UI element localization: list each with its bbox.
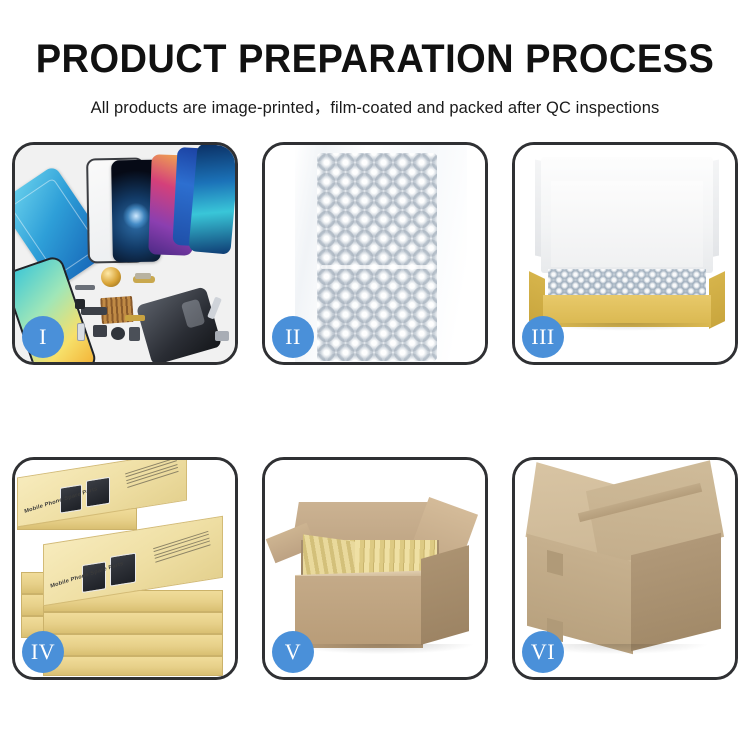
bracket-part-icon bbox=[81, 307, 107, 315]
flex-cable-part-icon bbox=[75, 285, 95, 290]
button-part-icon bbox=[75, 299, 85, 309]
retail-box-side-4 bbox=[43, 656, 223, 676]
bubble-wrap-icon bbox=[317, 153, 437, 361]
mailer-drop-shadow bbox=[541, 323, 713, 331]
step-badge-3: III bbox=[522, 316, 564, 358]
phone-teal-icon bbox=[188, 145, 235, 255]
step-badge-1: I bbox=[22, 316, 64, 358]
product-preparation-process-page: PRODUCT PREPARATION PROCESS All products… bbox=[0, 0, 750, 750]
bubble-wrap-seam bbox=[321, 265, 433, 269]
step-badge-5: V bbox=[272, 631, 314, 673]
tweezers-tool-icon bbox=[207, 296, 222, 319]
antenna-part-icon bbox=[135, 273, 151, 279]
process-step-panel-2: II bbox=[262, 142, 488, 365]
small-module-part-icon bbox=[93, 325, 107, 337]
sealed-carton-tape-upper bbox=[547, 550, 563, 576]
sim-tray-part-icon bbox=[77, 323, 85, 341]
retail-box-side-3 bbox=[43, 634, 223, 656]
carton-front-panel bbox=[295, 576, 423, 648]
page-title: PRODUCT PREPARATION PROCESS bbox=[19, 0, 732, 79]
box-spec-lines-2 bbox=[153, 531, 211, 565]
speaker-part-icon bbox=[111, 327, 125, 340]
screws-part-icon bbox=[215, 331, 229, 341]
page-subtitle: All products are image-printed，film-coat… bbox=[0, 79, 750, 118]
retail-box-side-2 bbox=[43, 612, 223, 634]
process-step-panel-3: III bbox=[512, 142, 738, 365]
page-header: PRODUCT PREPARATION PROCESS All products… bbox=[0, 0, 750, 118]
process-step-panel-4: Mobile Phone Spare Parts Mobile Phone Sp… bbox=[12, 457, 238, 680]
carton-side-panel bbox=[421, 545, 469, 645]
phone-back-housing-icon bbox=[136, 286, 222, 362]
step-badge-6: VI bbox=[522, 631, 564, 673]
carton-drop-shadow bbox=[293, 644, 473, 654]
process-step-panel-5: V bbox=[262, 457, 488, 680]
ribbon-cable-part-icon bbox=[125, 315, 145, 321]
mailer-side-right bbox=[709, 271, 725, 329]
process-steps-grid: I II III bbox=[12, 142, 738, 680]
box-spec-lines-1 bbox=[125, 460, 179, 490]
mailer-foam-insert bbox=[551, 181, 703, 267]
camera-lens-icon bbox=[101, 267, 121, 287]
process-step-panel-1: I bbox=[12, 142, 238, 365]
step-badge-2: II bbox=[272, 316, 314, 358]
vibrator-part-icon bbox=[129, 327, 140, 341]
step-badge-4: IV bbox=[22, 631, 64, 673]
process-step-panel-6: VI bbox=[512, 457, 738, 680]
